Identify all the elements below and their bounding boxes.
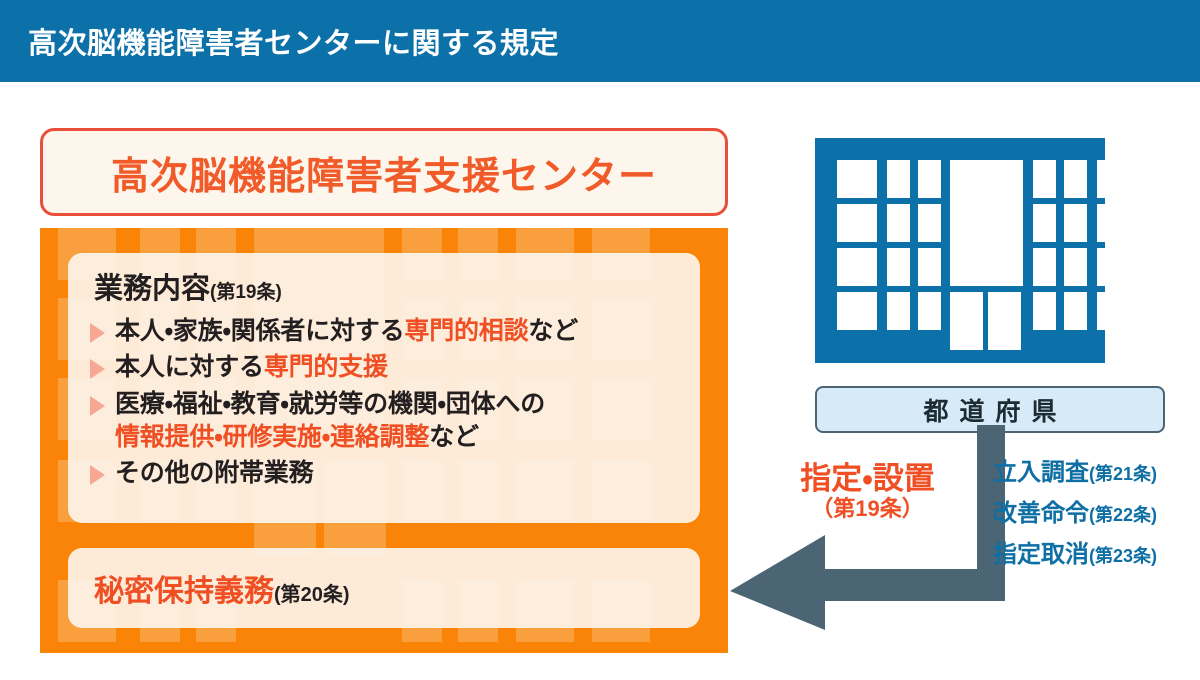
list-item: 改善命令(第22条) <box>993 493 1157 528</box>
designation-label: 指定・設置 （第19条） <box>770 463 965 520</box>
list-item: 医療・福祉・教育・就労等の機関・団体への情報提供・研修実施・連絡調整など <box>90 388 690 455</box>
elbow-arrow-left <box>715 425 1005 630</box>
building-window <box>1097 292 1137 330</box>
prefecture-powers-list: 立入調査(第21条) 改善命令(第22条) 指定取消(第23条) <box>993 452 1157 575</box>
header-bar: 高次脳機能障害者センターに関する規定 <box>0 0 1200 82</box>
list-item: その他の附帯業務 <box>90 457 690 490</box>
building-window <box>1097 160 1137 198</box>
list-item: 本人に対する専門的支援 <box>90 351 690 384</box>
duty-text-post: など <box>528 317 578 345</box>
page-title: 高次脳機能障害者センターに関する規定 <box>28 20 559 62</box>
building-window <box>887 160 910 198</box>
building-window <box>1033 292 1056 330</box>
building-window <box>1064 160 1087 198</box>
building-window-large <box>950 160 1023 286</box>
secrecy-obligation-panel: 秘密保持義務(第20条) <box>68 548 700 628</box>
building-window <box>918 160 941 198</box>
power-name: 立入調査 <box>993 459 1089 486</box>
duty-text-highlight: 専門的相談 <box>404 317 528 345</box>
building-window <box>918 248 941 286</box>
secrecy-obligation-article: (第20条) <box>274 584 350 606</box>
duty-text-highlight: 専門的支援 <box>264 353 388 381</box>
triangle-bullet-icon <box>90 359 105 379</box>
building-window <box>1097 204 1137 242</box>
duty-text-pre: 本人に対する <box>115 353 264 381</box>
building-window <box>1097 248 1137 286</box>
duty-text-post: など <box>429 423 479 451</box>
triangle-bullet-icon <box>90 465 105 485</box>
prefecture-label: 都道府県 <box>912 392 1067 428</box>
designation-label-article: （第19条） <box>770 497 965 520</box>
duties-heading: 業務内容(第19条) <box>94 265 282 307</box>
building-door <box>988 292 1021 350</box>
power-name: 指定取消 <box>993 541 1089 568</box>
building-window <box>837 160 877 198</box>
building-window <box>1064 204 1087 242</box>
support-center-title-box: 高次脳機能障害者支援センター <box>40 128 728 216</box>
power-article: (第23条) <box>1089 546 1157 566</box>
building-window <box>1064 248 1087 286</box>
building-window <box>887 204 910 242</box>
power-name: 改善命令 <box>993 500 1089 527</box>
duties-list: 本人・家族・関係者に対する専門的相談など 本人に対する専門的支援 医療・福祉・教… <box>90 315 690 493</box>
duty-text: 本人に対する専門的支援 <box>115 351 388 384</box>
support-center-card: 高次脳機能障害者支援センター <box>40 128 728 653</box>
duties-heading-article: (第19条) <box>210 282 282 303</box>
support-center-title: 高次脳機能障害者支援センター <box>111 145 657 200</box>
building-window <box>918 204 941 242</box>
duty-text-pre: 本人・家族・関係者に対する <box>115 317 404 345</box>
building-window <box>837 248 877 286</box>
building-window <box>887 292 910 330</box>
designation-label-main: 指定・設置 <box>770 463 965 496</box>
power-article: (第21条) <box>1089 464 1157 484</box>
building-window <box>918 292 941 330</box>
list-item: 指定取消(第23条) <box>993 534 1157 569</box>
building-window <box>1033 248 1056 286</box>
triangle-bullet-icon <box>90 396 105 416</box>
duty-text: その他の附帯業務 <box>115 457 313 490</box>
elbow-arrow-shape <box>715 425 1005 630</box>
building-window <box>1033 160 1056 198</box>
duty-text-pre: その他の附帯業務 <box>115 459 313 487</box>
building-icon <box>815 138 1105 363</box>
triangle-bullet-icon <box>90 323 105 343</box>
building-window <box>887 248 910 286</box>
support-center-body: 業務内容(第19条) 本人・家族・関係者に対する専門的相談など 本人に対する専門… <box>40 228 728 653</box>
building-window <box>1064 292 1087 330</box>
power-article: (第22条) <box>1089 505 1157 525</box>
secrecy-obligation-label: 秘密保持義務 <box>94 575 274 608</box>
arrow-path <box>730 425 1005 630</box>
duties-heading-label: 業務内容 <box>94 273 210 305</box>
duty-text: 医療・福祉・教育・就労等の機関・団体への情報提供・研修実施・連絡調整など <box>115 388 545 455</box>
building-door <box>950 292 983 350</box>
duties-panel: 業務内容(第19条) 本人・家族・関係者に対する専門的相談など 本人に対する専門… <box>68 253 700 523</box>
building-window <box>837 204 877 242</box>
duty-text-highlight: 情報提供・研修実施・連絡調整 <box>115 423 429 451</box>
building-window <box>837 292 877 330</box>
list-item: 本人・家族・関係者に対する専門的相談など <box>90 315 690 348</box>
duty-text: 本人・家族・関係者に対する専門的相談など <box>115 315 578 348</box>
secrecy-obligation-line: 秘密保持義務(第20条) <box>94 566 350 610</box>
duty-text-pre: 医療・福祉・教育・就労等の機関・団体への <box>115 390 545 418</box>
building-window <box>1033 204 1056 242</box>
list-item: 立入調査(第21条) <box>993 452 1157 487</box>
